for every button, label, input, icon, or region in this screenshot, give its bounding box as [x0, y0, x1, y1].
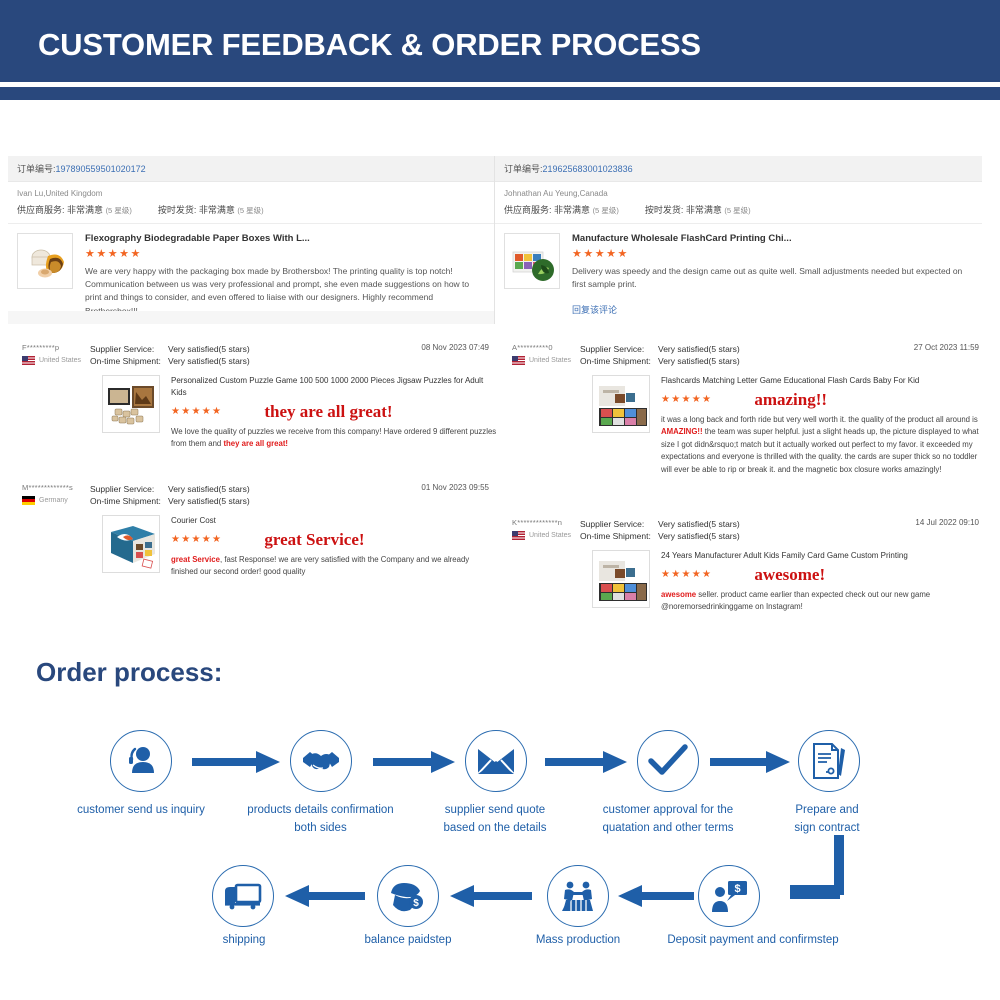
reviewer-name: A**********0 [512, 343, 580, 352]
review-headline: they are all great! [264, 402, 392, 422]
feedback-content: Courier Cost ★★★★★ great Service! great … [171, 515, 497, 579]
rating-row: ★★★★★ great Service! [171, 530, 497, 550]
process-label-product-confirmation: products details confirmation both sides [233, 802, 408, 838]
review-headline: amazing!! [754, 390, 827, 410]
arrow-left-icon [618, 885, 676, 907]
rating-stars: ★★★★★ [661, 395, 712, 405]
product-thumbnail[interactable] [592, 375, 650, 433]
rating-stars: ★★★★★ [85, 249, 485, 260]
order-ratings: 供应商服务: 非常满意 (5 星级) 按时发货: 非常满意 (5 星级) [17, 203, 485, 216]
process-node-supplier-quote[interactable] [465, 730, 527, 792]
rating-labels: Supplier Service: On-time Shipment: [580, 518, 658, 543]
review-date: 08 Nov 2023 07:49 [421, 343, 489, 352]
product-title[interactable]: 24 Years Manufacturer Adult Kids Family … [661, 550, 987, 562]
product-title[interactable]: Manufacture Wholesale FlashCard Printing… [572, 233, 973, 244]
deposit-person-icon: $ [709, 879, 749, 913]
hand-money-icon: $ [389, 880, 427, 912]
arrow-left-icon [450, 885, 508, 907]
reviewer-name: F*********p [22, 343, 90, 352]
process-connector-corner [790, 885, 840, 904]
process-node-sign-contract[interactable] [798, 730, 860, 792]
review-text: Delivery was speedy and the design came … [572, 265, 973, 291]
review-date: 14 Jul 2022 09:10 [915, 518, 979, 527]
jigsaw-puzzle-product-image [103, 376, 160, 433]
buyer-name: Ivan Lu,United Kingdom [17, 189, 485, 198]
supplier-service-rating: 供应商服务: 非常满意 (5 星级) [504, 203, 619, 216]
family-card-game-product-image [593, 551, 650, 608]
product-title[interactable]: Personalized Custom Puzzle Game 100 500 … [171, 375, 497, 399]
order-meta: Ivan Lu,United Kingdom 供应商服务: 非常满意 (5 星级… [8, 182, 494, 224]
reviewer-identity: A**********0 United States [500, 343, 580, 368]
product-title[interactable]: Courier Cost [171, 515, 497, 527]
reviewer-country: United States [512, 531, 580, 540]
process-label-customer-inquiry: customer send us inquiry [50, 802, 232, 820]
envelope-icon [477, 748, 515, 775]
rating-stars: ★★★★★ [661, 570, 712, 580]
rating-row: ★★★★★ awesome! [661, 565, 987, 585]
feedback-body: Personalized Custom Puzzle Game 100 500 … [10, 375, 497, 451]
reply-review-link[interactable]: 回复该评论 [572, 303, 973, 316]
process-label-supplier-quote: supplier send quote based on the details [415, 802, 575, 838]
order-number-label: 订单编号: [17, 162, 56, 175]
process-label-balance-paid: balance paidstep [338, 932, 478, 950]
feedback-header: F*********p United States Supplier Servi… [10, 343, 497, 368]
flashcards-product-image [593, 376, 650, 433]
reviewer-identity: F*********p United States [10, 343, 90, 368]
shipment-rating: 按时发货: 非常满意 (5 星级) [158, 203, 264, 216]
arrow-right-icon [373, 751, 431, 773]
review-text: awesome seller. product came earlier tha… [661, 589, 987, 614]
feedback-item: M*************s Germany Supplier Service… [10, 483, 497, 579]
order-meta: Johnathan Au Yeung,Canada 供应商服务: 非常满意 (5… [495, 182, 982, 224]
review-text: it was a long back and forth ride but ve… [661, 414, 987, 476]
order-review-content: Flexography Biodegradable Paper Boxes Wi… [85, 233, 485, 318]
review-headline: awesome! [754, 565, 825, 585]
feedback-content: 24 Years Manufacturer Adult Kids Family … [661, 550, 987, 614]
review-text: We are very happy with the packaging box… [85, 265, 485, 318]
process-label-shipping: shipping [180, 932, 308, 950]
feedback-header: M*************s Germany Supplier Service… [10, 483, 497, 508]
review-date: 01 Nov 2023 09:55 [421, 483, 489, 492]
germany-flag-icon [22, 496, 35, 505]
process-node-customer-inquiry[interactable] [110, 730, 172, 792]
order-number-bar: 订单编号: 219625683001023836 [495, 156, 982, 182]
process-node-product-confirmation[interactable] [290, 730, 352, 792]
buyer-name: Johnathan Au Yeung,Canada [504, 189, 973, 198]
process-label-deposit-payment: Deposit payment and confirmstep [638, 932, 868, 950]
headset-customer-icon [123, 743, 159, 779]
reviewer-name: K*************n [512, 518, 580, 527]
process-node-balance-paid[interactable]: $ [377, 865, 439, 927]
feedback-header: K*************n United States Supplier S… [500, 518, 987, 543]
feedback-content: Flashcards Matching Letter Game Educatio… [661, 375, 987, 476]
review-date: 27 Oct 2023 11:59 [914, 343, 979, 352]
order-process-title: Order process: [36, 657, 222, 688]
shipment-rating: 按时发货: 非常满意 (5 星级) [645, 203, 751, 216]
svg-text:$: $ [734, 883, 740, 895]
truck-icon [223, 882, 263, 910]
factory-workers-icon [558, 880, 598, 912]
paper-box-product-image [18, 234, 73, 289]
order-number-bar: 订单编号: 197890559501020172 [8, 156, 494, 182]
process-node-shipping[interactable] [212, 865, 274, 927]
flashcard-box-product-image [505, 234, 560, 289]
arrow-right-icon [710, 751, 768, 773]
arrow-right-icon [192, 751, 250, 773]
order-review-body: Manufacture Wholesale FlashCard Printing… [495, 224, 982, 316]
review-text: great Service, fast Response! we are ver… [171, 554, 497, 579]
product-thumbnail[interactable] [592, 550, 650, 608]
order-review-card: 订单编号: 197890559501020172 Ivan Lu,United … [8, 156, 495, 324]
reviewer-country: Germany [22, 496, 90, 505]
page-title: CUSTOMER FEEDBACK & ORDER PROCESS [38, 27, 701, 63]
order-number-value[interactable]: 219625683001023836 [543, 164, 633, 174]
review-headline: great Service! [264, 530, 364, 550]
product-thumbnail[interactable] [504, 233, 560, 289]
review-text: We love the quality of puzzles we receiv… [171, 426, 497, 451]
product-thumbnail[interactable] [102, 375, 160, 433]
feedback-item: A**********0 United States Supplier Serv… [500, 343, 987, 476]
svg-text:$: $ [413, 898, 419, 909]
feedback-body: 24 Years Manufacturer Adult Kids Family … [500, 550, 987, 614]
reviewer-name: M*************s [22, 483, 90, 492]
order-review-content: Manufacture Wholesale FlashCard Printing… [572, 233, 973, 316]
rating-stars: ★★★★★ [171, 535, 222, 545]
feedback-item: F*********p United States Supplier Servi… [10, 343, 497, 451]
us-flag-icon [512, 531, 525, 540]
product-title[interactable]: Flashcards Matching Letter Game Educatio… [661, 375, 987, 387]
us-flag-icon [512, 356, 525, 365]
handshake-icon [301, 746, 341, 776]
arrow-right-icon [545, 751, 603, 773]
feedback-body: Courier Cost ★★★★★ great Service! great … [10, 515, 497, 579]
order-number-label: 订单编号: [504, 162, 543, 175]
contract-document-icon [811, 742, 847, 780]
rating-labels: Supplier Service: On-time Shipment: [580, 343, 658, 368]
reviewer-identity: K*************n United States [500, 518, 580, 543]
feedback-body: Flashcards Matching Letter Game Educatio… [500, 375, 987, 476]
process-node-deposit-payment[interactable]: $ [698, 865, 760, 927]
header-accent-bar [0, 87, 1000, 100]
order-review-cards: 订单编号: 197890559501020172 Ivan Lu,United … [8, 156, 992, 326]
order-number-value[interactable]: 197890559501020172 [56, 164, 146, 174]
process-label-mass-production: Mass production [498, 932, 658, 950]
feedback-content: Personalized Custom Puzzle Game 100 500 … [171, 375, 497, 451]
product-thumbnail[interactable] [17, 233, 73, 289]
process-node-mass-production[interactable] [547, 865, 609, 927]
arrow-left-icon [285, 885, 343, 907]
reviewer-country: United States [512, 356, 580, 365]
order-review-card: 订单编号: 219625683001023836 Johnathan Au Ye… [495, 156, 982, 324]
order-review-body: Flexography Biodegradable Paper Boxes Wi… [8, 224, 494, 318]
rating-stars: ★★★★★ [572, 249, 973, 260]
rating-row: ★★★★★ they are all great! [171, 402, 497, 422]
process-node-customer-approval[interactable] [637, 730, 699, 792]
product-title[interactable]: Flexography Biodegradable Paper Boxes Wi… [85, 233, 485, 244]
reviewer-country: United States [22, 356, 90, 365]
process-label-customer-approval: customer approval for the quatation and … [578, 802, 758, 838]
rating-stars: ★★★★★ [171, 407, 222, 417]
feedback-grid: F*********p United States Supplier Servi… [0, 340, 1000, 640]
rating-row: ★★★★★ amazing!! [661, 390, 987, 410]
rating-labels: Supplier Service: On-time Shipment: [90, 483, 168, 508]
supplier-service-rating: 供应商服务: 非常满意 (5 星级) [17, 203, 132, 216]
check-icon [648, 744, 688, 778]
open-box-cards-product-image [103, 516, 160, 573]
card-footer [8, 311, 494, 324]
product-thumbnail[interactable] [102, 515, 160, 573]
rating-labels: Supplier Service: On-time Shipment: [90, 343, 168, 368]
order-process-diagram: customer send us inquiry products detail… [0, 710, 1000, 980]
process-label-sign-contract: Prepare and sign contract [762, 802, 892, 838]
feedback-header: A**********0 United States Supplier Serv… [500, 343, 987, 368]
feedback-item: K*************n United States Supplier S… [500, 518, 987, 614]
order-ratings: 供应商服务: 非常满意 (5 星级) 按时发货: 非常满意 (5 星级) [504, 203, 973, 216]
reviewer-identity: M*************s Germany [10, 483, 90, 508]
us-flag-icon [22, 356, 35, 365]
